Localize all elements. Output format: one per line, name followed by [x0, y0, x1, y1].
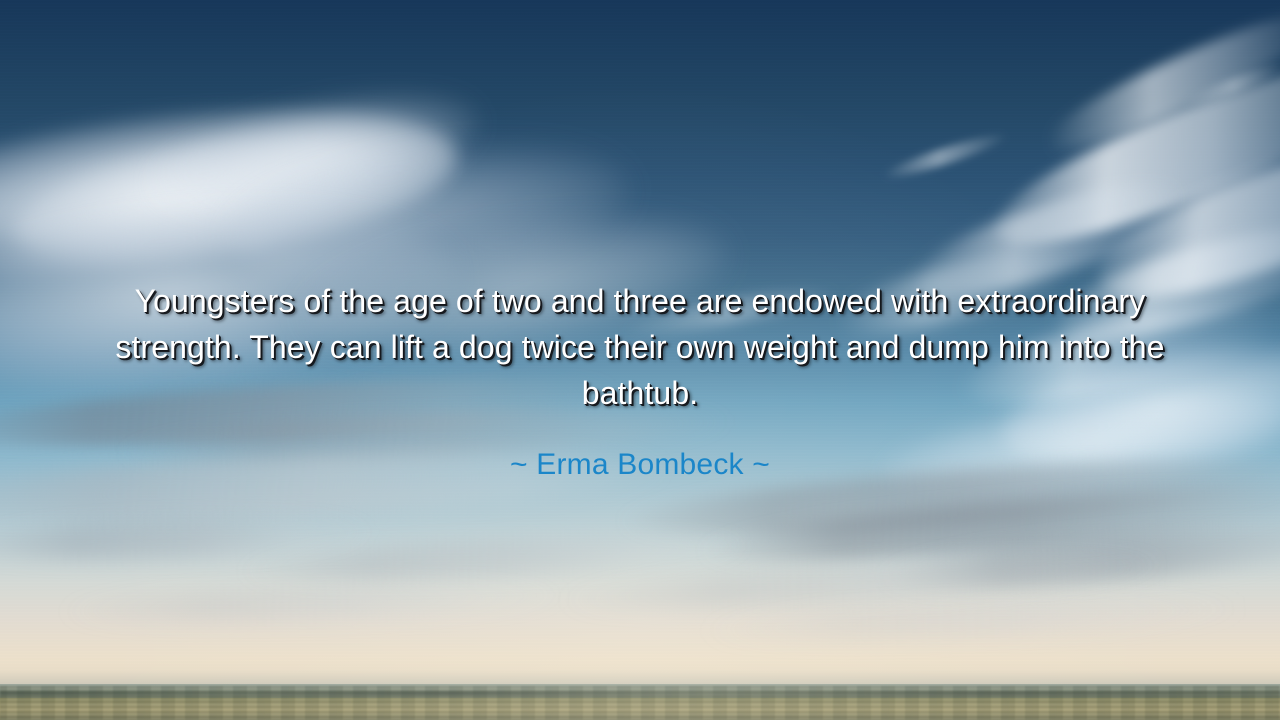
landscape-treeline	[0, 691, 1280, 696]
sky-banding-texture	[0, 0, 1280, 720]
quote-image-canvas: Youngsters of the age of two and three a…	[0, 0, 1280, 720]
